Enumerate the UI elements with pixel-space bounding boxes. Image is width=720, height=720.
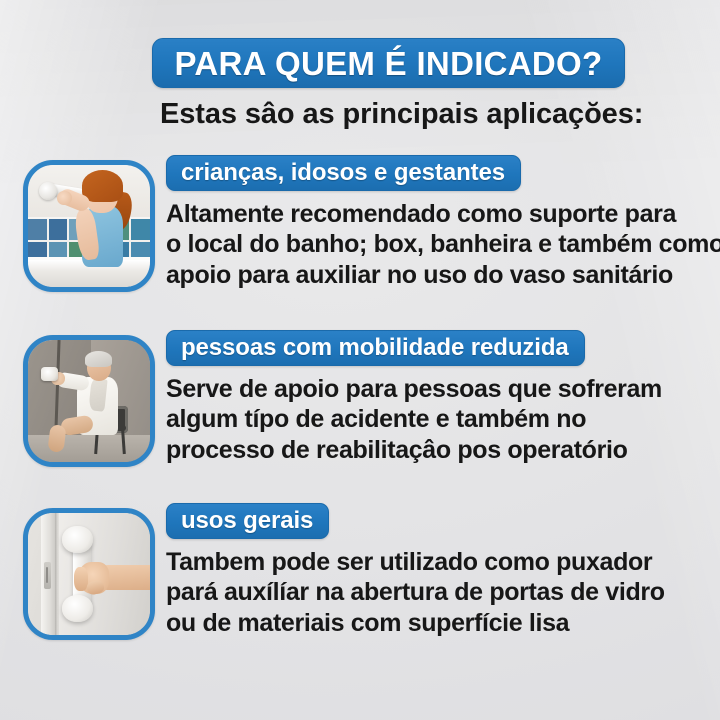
description-line: o local do banho; box, banheira e também… <box>166 229 711 259</box>
girl-bathtub-grab-bar-photo <box>28 165 150 287</box>
description-line: Altamente recomendado como suporte para <box>166 199 711 229</box>
header-title-pill: PARA QUEM É INDICADO? <box>152 38 625 88</box>
application-text-2: pessoas com mobilidade reduzida Serve de… <box>166 330 711 465</box>
application-pill-1: crianças, idosos e gestantes <box>166 155 521 191</box>
application-row-1: crianças, idosos e gestantes Altamente r… <box>0 155 720 315</box>
description-line: algum típo de acidente e também no <box>166 404 711 434</box>
application-pill-3: usos gerais <box>166 503 329 539</box>
elderly-man-chair-grab-bar-photo <box>28 340 150 462</box>
application-row-3: usos gerais Tambem pode ser utilizado co… <box>0 503 720 663</box>
description-line: Serve de apoio para pessoas que sofreram <box>166 374 711 404</box>
application-description-2: Serve de apoio para pessoas que sofreram… <box>166 374 711 465</box>
description-line: pará auxílíar na abertura de portas de v… <box>166 577 711 607</box>
description-line: Tambem pode ser utilizado como puxador <box>166 547 711 577</box>
description-line: processo de reabilitaçâo pos operatório <box>166 435 711 465</box>
description-line: ou de materiais com superfície lisa <box>166 608 711 638</box>
application-text-1: crianças, idosos e gestantes Altamente r… <box>166 155 711 290</box>
application-pill-2: pessoas com mobilidade reduzida <box>166 330 585 366</box>
application-description-1: Altamente recomendado como suporte para … <box>166 199 711 290</box>
photo-frame-3 <box>23 508 155 640</box>
hand-door-grab-bar-photo <box>28 513 150 635</box>
page-subtitle: Estas sâo as principais aplicaçŏes: <box>160 98 660 130</box>
page-title: PARA QUEM É INDICADO? <box>175 47 603 80</box>
description-line: apoio para auxiliar no uso do vaso sanit… <box>166 260 711 290</box>
photo-frame-2 <box>23 335 155 467</box>
application-row-2: pessoas com mobilidade reduzida Serve de… <box>0 330 720 490</box>
application-description-3: Tambem pode ser utilizado como puxador p… <box>166 547 711 638</box>
photo-frame-1 <box>23 160 155 292</box>
infographic-poster: PARA QUEM É INDICADO? Estas sâo as princ… <box>0 0 720 720</box>
application-text-3: usos gerais Tambem pode ser utilizado co… <box>166 503 711 638</box>
